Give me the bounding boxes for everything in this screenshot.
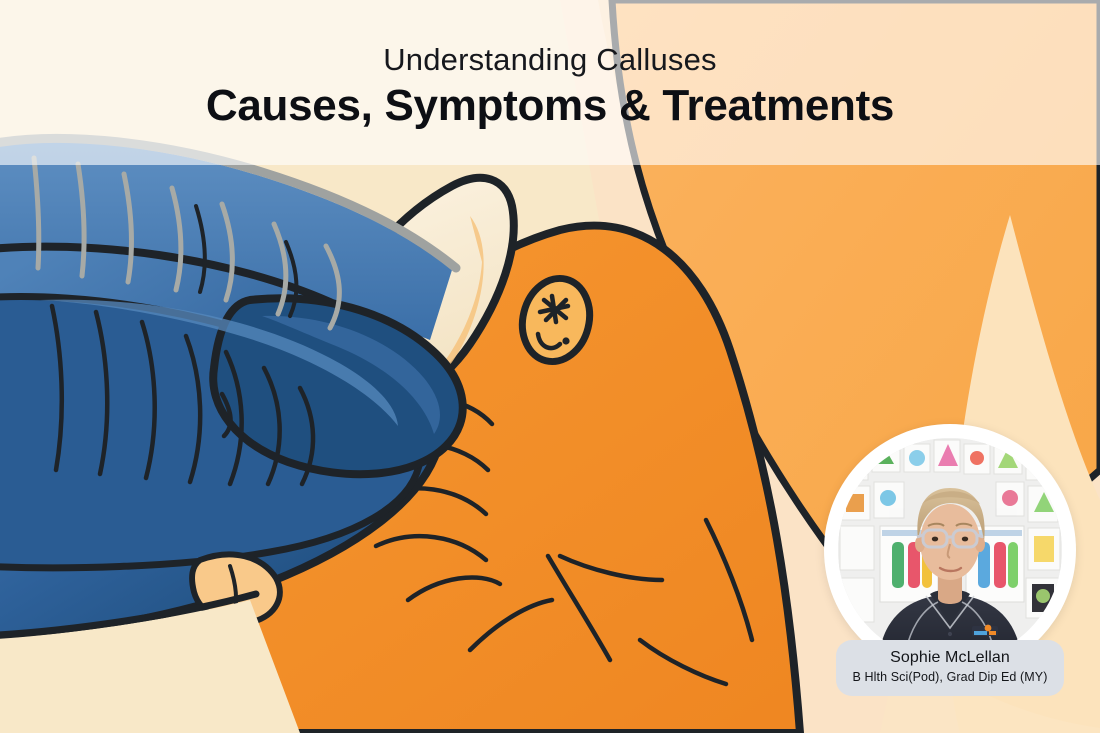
presenter-name-card: Sophie McLellan B Hlth Sci(Pod), Grad Di… <box>836 640 1064 696</box>
presenter-credentials: B Hlth Sci(Pod), Grad Dip Ed (MY) <box>846 670 1054 685</box>
presenter-name: Sophie McLellan <box>846 649 1054 667</box>
avatar <box>838 438 1062 662</box>
callus-infographic-banner: Understanding Calluses Causes, Symptoms … <box>0 0 1100 733</box>
presenter-badge: Sophie McLellan B Hlth Sci(Pod), Grad Di… <box>824 424 1076 686</box>
